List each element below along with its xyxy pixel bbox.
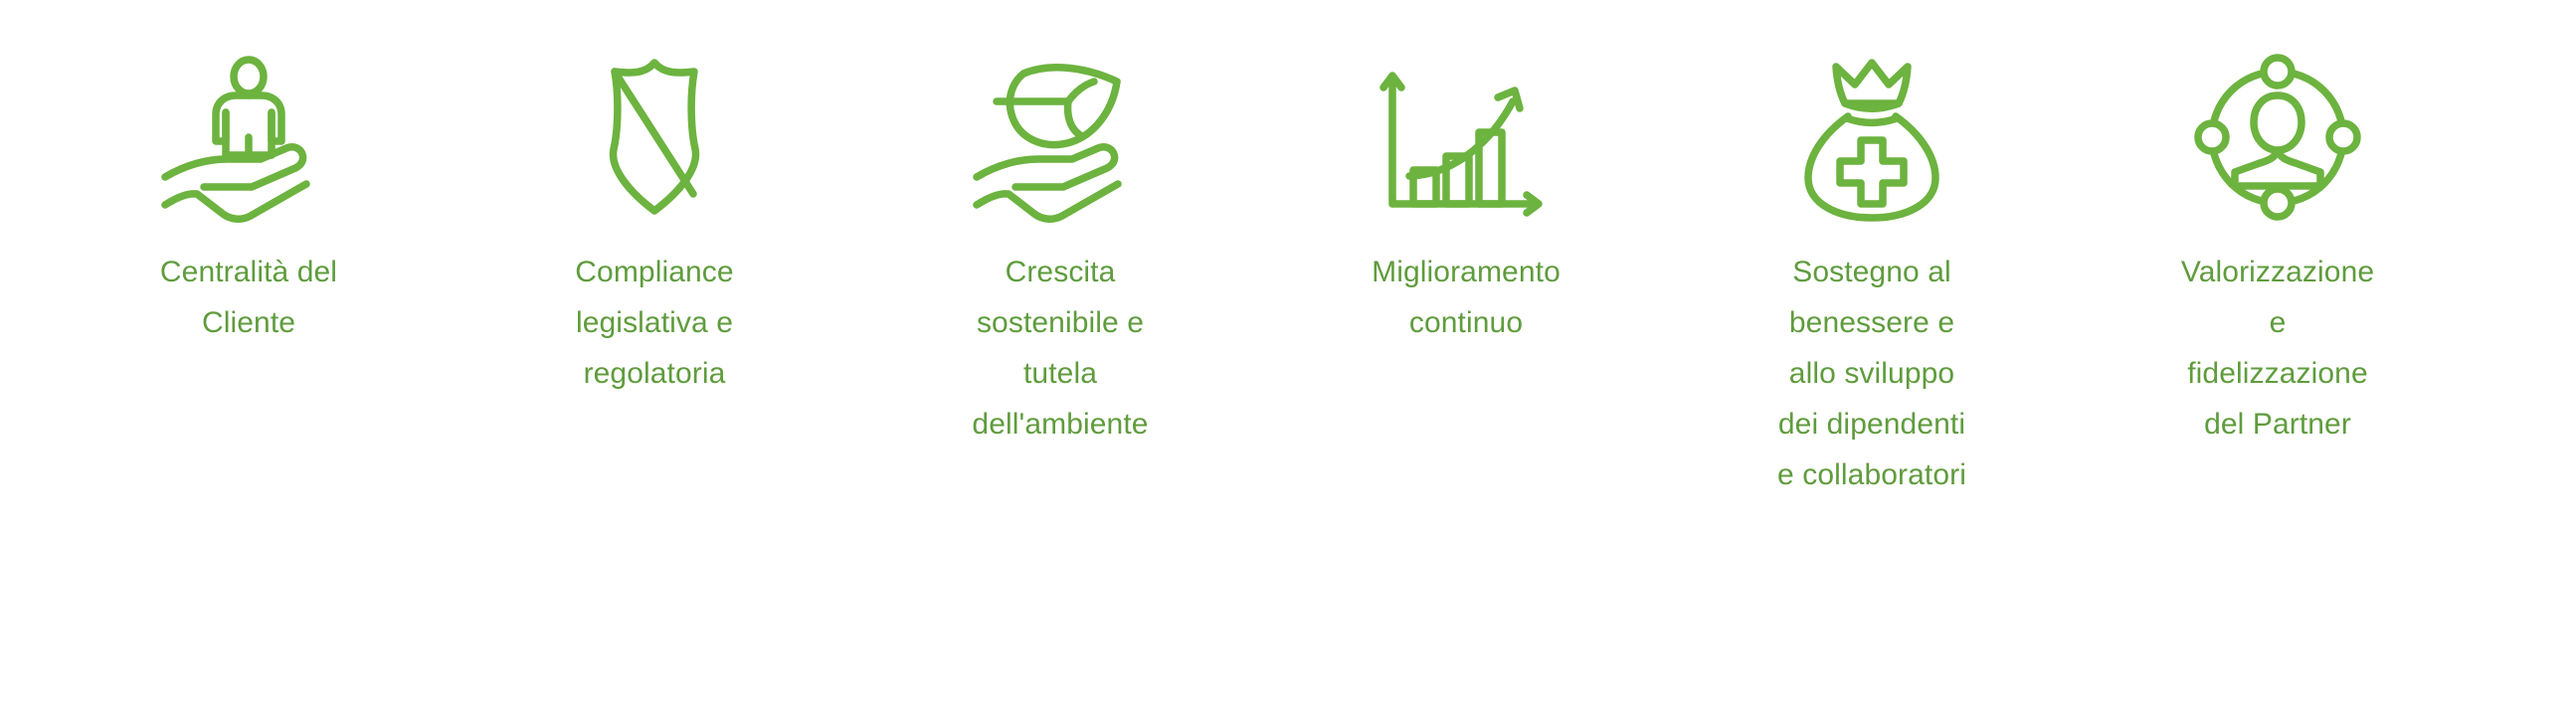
value-card-centralita-del-cliente: Centralità del Cliente — [46, 55, 452, 348]
shield-icon — [555, 55, 754, 219]
person-network-icon — [2178, 55, 2377, 219]
value-card-sostegno-al-benessere: Sostegno al benessere e allo sviluppo de… — [1669, 55, 2075, 500]
value-label: Crescita sostenibile e tutela dell'ambie… — [946, 247, 1175, 449]
value-card-valorizzazione-fidelizzazione-del-partner: Valorizzazione e fidelizzazione del Part… — [2075, 55, 2481, 449]
value-label: Miglioramento continuo — [1302, 247, 1630, 348]
values-board: Centralità del Cliente Compliance legisl… — [0, 0, 2576, 718]
value-label: Valorizzazione e fidelizzazione del Part… — [2156, 247, 2400, 449]
leaf-on-hand-icon — [961, 55, 1160, 219]
value-card-miglioramento-continuo: Miglioramento continuo — [1263, 55, 1669, 348]
value-card-compliance-legislativa-e-regolatoria: Compliance legislativa e regolatoria — [452, 55, 857, 399]
value-label: Compliance legislativa e regolatoria — [530, 247, 779, 399]
growth-chart-icon — [1367, 55, 1565, 219]
value-label: Centralità del Cliente — [99, 247, 398, 348]
value-label: Sostegno al benessere e allo sviluppo de… — [1743, 247, 2001, 500]
money-bag-plus-icon — [1772, 55, 1971, 219]
value-card-crescita-sostenibile-e-tutela-dell-ambiente: Crescita sostenibile e tutela dell'ambie… — [857, 55, 1263, 449]
person-on-hand-icon — [149, 55, 348, 219]
